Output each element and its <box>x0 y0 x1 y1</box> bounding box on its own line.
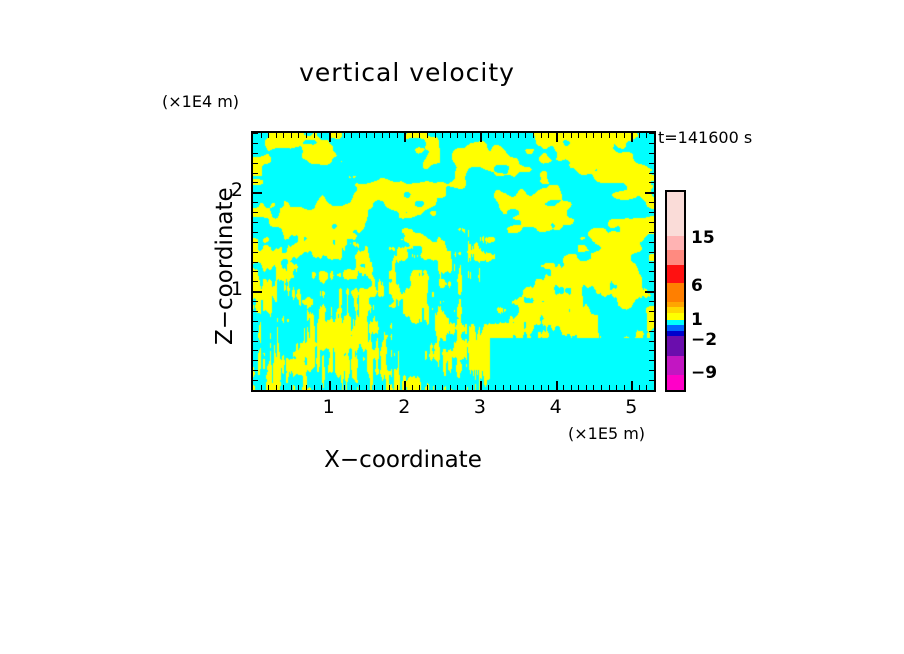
axis-tick <box>253 370 258 371</box>
colorbar-band <box>667 192 684 236</box>
axis-tick <box>253 331 258 332</box>
axis-tick <box>419 385 420 390</box>
axis-tick <box>450 133 451 138</box>
axis-tick <box>548 385 549 390</box>
axis-tick <box>291 385 292 390</box>
x-tick-label: 5 <box>616 396 646 418</box>
axis-tick <box>268 133 269 138</box>
axis-tick <box>645 192 654 194</box>
axis-tick <box>442 133 443 138</box>
axis-tick <box>593 133 594 138</box>
axis-tick <box>253 321 258 322</box>
axis-tick <box>253 301 258 302</box>
colorbar-tick-label: −2 <box>691 330 717 350</box>
axis-tick <box>472 133 473 138</box>
axis-tick <box>649 143 654 144</box>
axis-tick <box>253 311 258 312</box>
axis-tick <box>488 133 489 138</box>
colorbar-band <box>667 356 684 375</box>
axis-tick <box>253 192 262 194</box>
axis-tick <box>336 385 337 390</box>
axis-tick <box>442 385 443 390</box>
axis-tick <box>253 232 258 233</box>
axis-tick <box>510 133 511 138</box>
axis-tick <box>639 385 640 390</box>
axis-tick <box>283 133 284 138</box>
axis-tick <box>639 133 640 138</box>
axis-tick <box>253 291 262 293</box>
colorbar-band <box>667 336 684 356</box>
colorbar <box>665 190 686 392</box>
x-tick-label: 4 <box>541 396 571 418</box>
axis-tick <box>404 133 406 142</box>
axis-tick <box>450 385 451 390</box>
axis-tick <box>571 133 572 138</box>
axis-tick <box>488 385 489 390</box>
axis-tick <box>533 385 534 390</box>
axis-tick <box>253 341 258 342</box>
axis-tick <box>649 153 654 154</box>
axis-tick <box>556 133 558 142</box>
colorbar-tick-label: 15 <box>691 228 715 248</box>
axis-tick <box>649 222 654 223</box>
axis-tick <box>525 133 526 138</box>
axis-tick <box>646 133 647 138</box>
axis-tick <box>253 271 258 272</box>
axis-tick <box>253 202 258 203</box>
axis-tick <box>412 133 413 138</box>
axis-tick <box>571 385 572 390</box>
axis-tick <box>276 385 277 390</box>
colorbar-band <box>667 313 684 320</box>
x-tick-label: 1 <box>314 396 344 418</box>
axis-tick <box>427 385 428 390</box>
axis-tick <box>503 133 504 138</box>
axis-tick <box>649 173 654 174</box>
axis-tick <box>548 133 549 138</box>
colorbar-band <box>667 265 684 284</box>
axis-tick <box>541 385 542 390</box>
contour-plot-area <box>251 131 656 392</box>
axis-tick <box>609 133 610 138</box>
axis-tick <box>616 133 617 138</box>
axis-tick <box>382 385 383 390</box>
axis-tick <box>563 133 564 138</box>
axis-tick <box>427 133 428 138</box>
axis-tick <box>359 133 360 138</box>
colorbar-tick-label: −9 <box>691 363 717 383</box>
axis-tick <box>586 133 587 138</box>
axis-tick <box>631 381 633 390</box>
x-tick-label: 3 <box>465 396 495 418</box>
axis-tick <box>518 133 519 138</box>
axis-tick <box>457 385 458 390</box>
axis-tick <box>276 133 277 138</box>
axis-tick <box>649 163 654 164</box>
axis-tick <box>268 385 269 390</box>
axis-tick <box>253 212 258 213</box>
axis-tick <box>419 133 420 138</box>
axis-tick <box>533 133 534 138</box>
axis-tick <box>649 212 654 213</box>
axis-tick <box>503 385 504 390</box>
axis-tick <box>412 385 413 390</box>
axis-tick <box>518 385 519 390</box>
axis-tick <box>646 385 647 390</box>
axis-tick <box>578 133 579 138</box>
axis-tick <box>510 385 511 390</box>
axis-tick <box>253 380 258 381</box>
axis-tick <box>374 385 375 390</box>
axis-tick <box>649 232 654 233</box>
axis-tick <box>261 133 262 138</box>
velocity-field-canvas <box>253 133 654 390</box>
axis-tick <box>435 385 436 390</box>
axis-tick <box>253 252 258 253</box>
axis-tick <box>359 385 360 390</box>
time-annotation: t=141600 s <box>658 128 752 147</box>
axis-tick <box>253 222 258 223</box>
axis-tick <box>253 143 258 144</box>
axis-tick <box>649 321 654 322</box>
axis-tick <box>314 385 315 390</box>
axis-tick <box>253 262 258 263</box>
axis-tick <box>631 133 633 142</box>
axis-tick <box>495 385 496 390</box>
axis-tick <box>321 133 322 138</box>
axis-tick <box>374 133 375 138</box>
axis-tick <box>465 385 466 390</box>
axis-tick <box>649 182 654 183</box>
axis-tick <box>253 153 258 154</box>
axis-tick <box>649 311 654 312</box>
axis-tick <box>344 133 345 138</box>
axis-tick <box>283 385 284 390</box>
axis-tick <box>649 301 654 302</box>
axis-tick <box>525 385 526 390</box>
axis-tick <box>253 133 258 134</box>
axis-tick <box>253 173 258 174</box>
axis-tick <box>298 133 299 138</box>
axis-tick <box>601 385 602 390</box>
axis-tick <box>253 242 258 243</box>
colorbar-band <box>667 283 684 302</box>
axis-tick <box>649 370 654 371</box>
axis-tick <box>397 133 398 138</box>
axis-tick <box>336 133 337 138</box>
axis-tick <box>495 133 496 138</box>
axis-tick <box>253 281 258 282</box>
axis-tick <box>645 291 654 293</box>
axis-tick <box>366 385 367 390</box>
axis-tick <box>382 133 383 138</box>
axis-tick <box>649 202 654 203</box>
axis-tick <box>609 385 610 390</box>
axis-tick <box>329 133 331 142</box>
axis-tick <box>649 380 654 381</box>
axis-tick <box>472 385 473 390</box>
axis-tick <box>291 133 292 138</box>
axis-tick <box>253 350 258 351</box>
axis-tick <box>366 133 367 138</box>
axis-tick <box>306 133 307 138</box>
axis-tick <box>649 281 654 282</box>
axis-tick <box>649 360 654 361</box>
colorbar-band <box>667 250 684 264</box>
page-title: vertical velocity <box>0 58 859 87</box>
x-axis-title: X−coordinate <box>0 447 855 473</box>
axis-tick <box>649 341 654 342</box>
axis-tick <box>389 133 390 138</box>
axis-tick <box>314 133 315 138</box>
axis-tick <box>465 133 466 138</box>
axis-tick <box>649 262 654 263</box>
axis-tick <box>649 133 654 134</box>
axis-tick <box>351 385 352 390</box>
axis-tick <box>578 385 579 390</box>
axis-tick <box>298 385 299 390</box>
colorbar-band <box>667 236 684 250</box>
axis-tick <box>261 385 262 390</box>
axis-tick <box>435 133 436 138</box>
axis-tick <box>253 182 258 183</box>
axis-tick <box>351 133 352 138</box>
colorbar-band <box>667 375 684 390</box>
y-axis-unit-label: (×1E4 m) <box>162 92 239 111</box>
axis-tick <box>329 381 331 390</box>
colorbar-tick-label: 6 <box>691 276 703 296</box>
axis-tick <box>563 385 564 390</box>
axis-tick <box>306 385 307 390</box>
axis-tick <box>556 381 558 390</box>
axis-tick <box>321 385 322 390</box>
axis-tick <box>253 163 258 164</box>
axis-tick <box>649 242 654 243</box>
axis-tick <box>389 385 390 390</box>
axis-tick <box>457 133 458 138</box>
axis-tick <box>616 385 617 390</box>
axis-tick <box>649 252 654 253</box>
axis-tick <box>541 133 542 138</box>
axis-tick <box>586 385 587 390</box>
axis-tick <box>624 385 625 390</box>
axis-tick <box>593 385 594 390</box>
axis-tick <box>404 381 406 390</box>
axis-tick <box>649 271 654 272</box>
axis-tick <box>344 385 345 390</box>
axis-tick <box>624 133 625 138</box>
axis-tick <box>480 133 482 142</box>
axis-tick <box>480 381 482 390</box>
axis-tick <box>649 350 654 351</box>
x-axis-unit-label: (×1E5 m) <box>568 424 645 443</box>
axis-tick <box>397 385 398 390</box>
colorbar-tick-label: 1 <box>691 310 703 330</box>
axis-tick <box>253 360 258 361</box>
y-axis-title: Z−coordinate <box>212 187 238 345</box>
x-tick-label: 2 <box>389 396 419 418</box>
axis-tick <box>601 133 602 138</box>
axis-tick <box>649 331 654 332</box>
